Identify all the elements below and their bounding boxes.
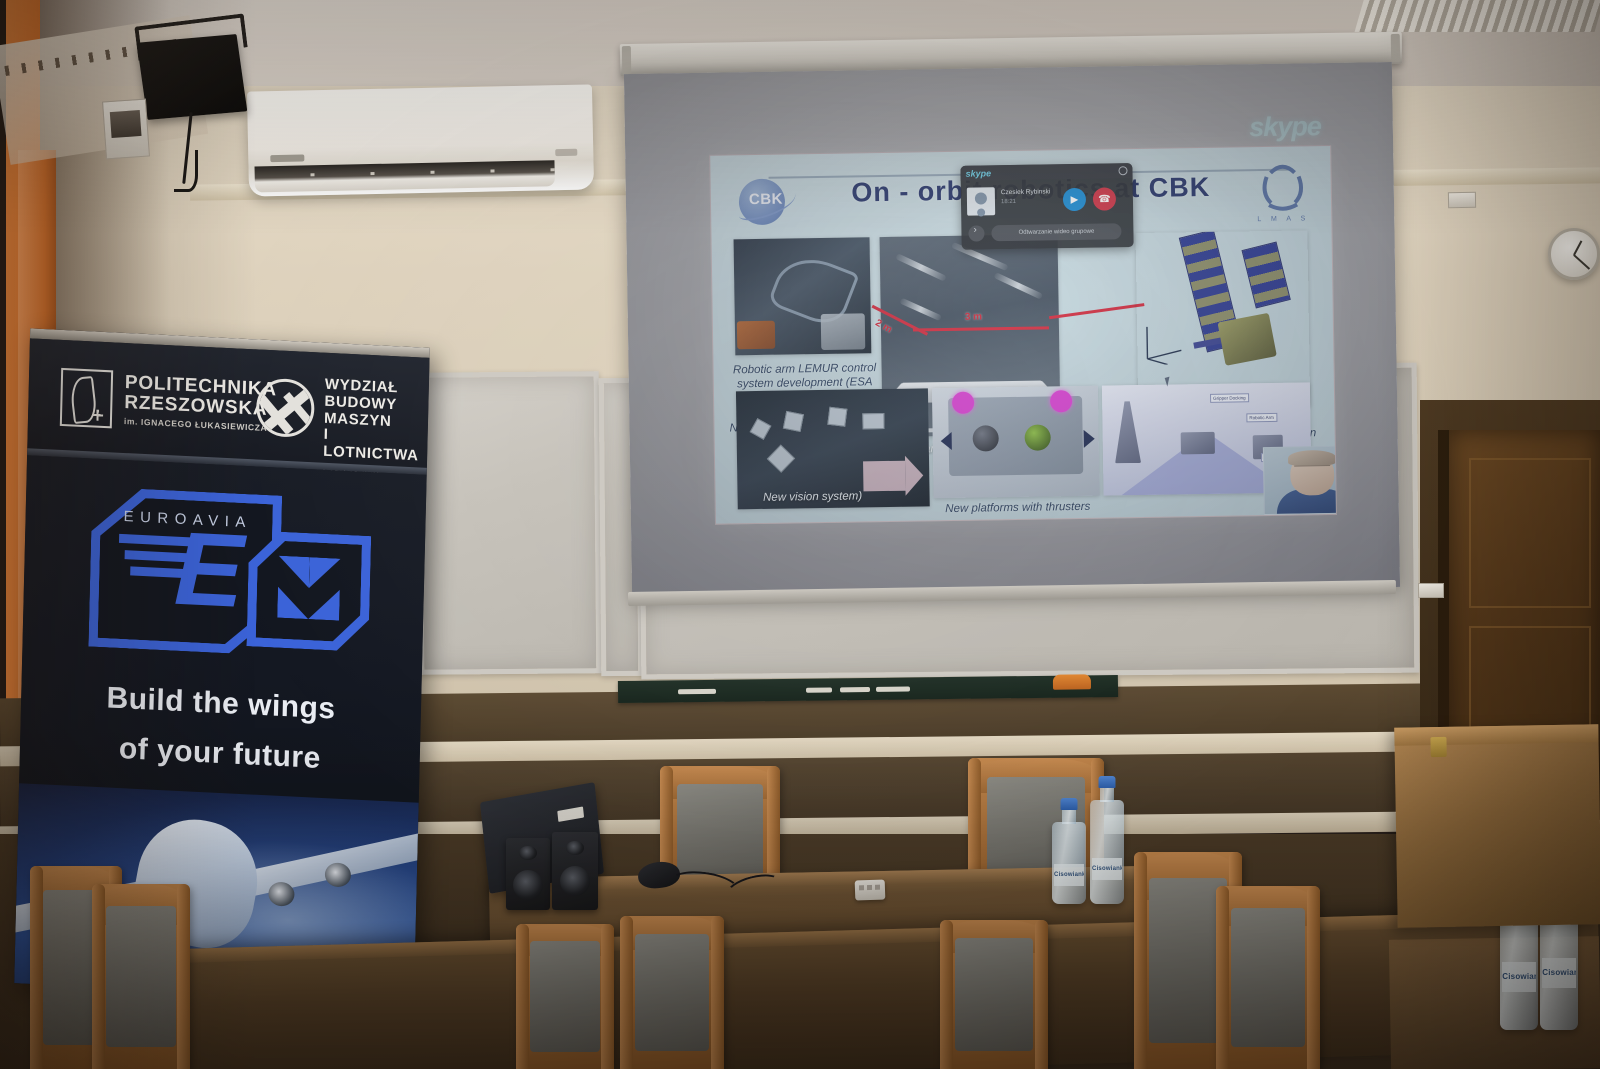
bottle-cap <box>1061 798 1078 810</box>
cross-quadrant <box>309 557 341 590</box>
chair-post-right <box>1035 920 1048 1069</box>
lectern-cup <box>1430 737 1446 757</box>
lectern <box>1394 724 1600 928</box>
thruster-arrow-right <box>1084 430 1095 448</box>
speaker-left <box>506 838 550 910</box>
tray-eraser[interactable] <box>1053 674 1091 689</box>
cbk-logo-text: CBK <box>740 190 792 208</box>
ac-air-vent <box>255 160 555 192</box>
slide-caption-vision: New vision system) <box>737 489 887 505</box>
chair-backrest <box>955 938 1033 1051</box>
chair-post-left <box>940 920 953 1069</box>
bottle-neck <box>1100 786 1114 802</box>
ceiling-light-streak <box>899 298 942 321</box>
arm-gripper-part <box>821 313 866 350</box>
cross-quadrant <box>308 588 340 621</box>
clock-minute-hand <box>1573 254 1590 269</box>
sim-callout-gripper: Gripper Docking <box>1210 393 1249 403</box>
casing-end-right <box>1391 34 1400 62</box>
lmas-arcs-svg <box>1250 162 1315 215</box>
jet-engine <box>268 881 295 906</box>
water-bottle[interactable]: Cisowianka <box>1052 822 1086 904</box>
coordinate-axes-icon <box>1141 320 1186 365</box>
speaker-right <box>552 832 598 910</box>
bottle-label: Cisowianka <box>1092 858 1122 880</box>
vision-marker <box>827 407 847 427</box>
bottle-label: Cisowianka <box>1502 962 1535 992</box>
euroavia-logo-icon: EUROAVIA E <box>88 487 372 667</box>
chair-post-left <box>30 866 43 1069</box>
lecture-room-scene: skype CBK On - orbit robotics at CBK <box>0 0 1600 1069</box>
banner-tagline-line2: of your future <box>20 727 420 781</box>
ceiling-light-streak <box>993 272 1043 299</box>
laptop-sticker <box>557 806 584 821</box>
vision-marker <box>783 411 804 432</box>
pz-monogram-icon <box>60 368 113 429</box>
chair-post-left <box>516 924 529 1069</box>
chair[interactable] <box>92 884 190 1069</box>
chair-backrest <box>1231 908 1306 1047</box>
bottle-neck <box>1062 808 1076 824</box>
presentation-remote[interactable] <box>855 879 886 900</box>
ac-brand-logo <box>270 154 304 162</box>
webcam-person-hair <box>1288 450 1336 466</box>
banner-header-strip: POLITECHNIKA RZESZOWSKA im. IGNACEGO ŁUK… <box>27 338 429 468</box>
cbk-logo-icon: CBK <box>735 174 798 227</box>
tray-marker[interactable] <box>678 689 716 694</box>
chair-post-left <box>1216 886 1229 1069</box>
tray-marker[interactable] <box>806 687 832 692</box>
speaker-cone <box>513 870 543 900</box>
bottle-cap <box>1099 776 1116 788</box>
light-switch[interactable] <box>1448 192 1476 208</box>
banner-main-area: EUROAVIA E Build the wings of your futur… <box>19 455 427 814</box>
video-camera-icon[interactable]: ▶ <box>1063 188 1086 211</box>
chair-post-left <box>620 916 633 1069</box>
banner-tagline-line1: Build the wings <box>21 677 421 731</box>
chair-post-right <box>1307 886 1320 1069</box>
tray-marker[interactable] <box>876 686 910 691</box>
wall-clock <box>1548 228 1600 280</box>
skype-watermark: skype <box>1249 111 1321 143</box>
door-panel-upper <box>1469 458 1591 608</box>
bottle-label: Cisowianka <box>1054 864 1084 886</box>
wall-junction-box <box>102 99 150 160</box>
skype-logo-icon: skype <box>965 168 991 178</box>
chair-backrest <box>635 934 710 1050</box>
speaker-cone <box>560 866 590 896</box>
wall-mounted-panel <box>137 34 248 120</box>
chair-post-left <box>92 884 105 1069</box>
tray-marker[interactable] <box>840 687 870 692</box>
sim-callout-arm: Robotic Arm <box>1246 413 1277 422</box>
casing-end-left <box>622 46 631 74</box>
speaker-tweeter <box>519 846 537 860</box>
chair[interactable] <box>516 924 614 1069</box>
skype-call-window[interactable]: skype Czesiek Rybinski 18:21 ▶ ☎ Odtwarz… <box>960 163 1133 250</box>
arm-orange-part <box>737 321 775 350</box>
chair-post-left <box>1134 852 1147 1069</box>
faculty-name-line3: I LOTNICTWA <box>323 427 428 466</box>
webcam-person-glasses <box>1294 465 1330 473</box>
water-bottle[interactable]: Cisowianka <box>1090 800 1124 904</box>
dimension-label-3m: 3 m <box>965 311 982 322</box>
propeller-circle-icon <box>256 377 315 438</box>
chair-backrest <box>530 941 601 1051</box>
sim-robot-a <box>1181 432 1215 455</box>
chair[interactable] <box>1216 886 1320 1069</box>
maltese-cross-icon <box>277 556 340 621</box>
slide-photo-robotic-arm <box>734 237 872 355</box>
chair-post-right <box>601 924 614 1069</box>
slide-photo-thruster-platform <box>932 386 1100 499</box>
speaker-tweeter <box>566 841 584 855</box>
euroavia-monogram: E <box>173 529 244 613</box>
hangup-glyph: ☎ <box>1098 193 1111 204</box>
ceiling-light-fixture <box>1355 0 1600 32</box>
lectern-top <box>1394 724 1598 746</box>
cross-quadrant <box>277 587 309 620</box>
skype-contact-name: Czesiek Rybinski <box>1001 188 1051 196</box>
chair-post-right <box>177 884 190 1069</box>
wall-socket[interactable] <box>1418 583 1444 598</box>
chair-backrest <box>106 906 177 1047</box>
phone-hangup-icon[interactable]: ☎ <box>1093 187 1116 210</box>
vision-marker <box>862 413 884 429</box>
chair-post-right <box>711 916 724 1069</box>
thruster-arrow-left <box>941 432 952 450</box>
jet-engine <box>325 862 352 887</box>
lmas-logo-label: L M A S <box>1251 215 1315 223</box>
expand-chevron-icon[interactable] <box>968 225 984 241</box>
faculty-name-line2: BUDOWY MASZYN <box>324 394 429 433</box>
vision-marker <box>750 418 772 440</box>
air-conditioner-unit <box>247 84 594 196</box>
ac-status-led <box>555 149 577 156</box>
cross-quadrant <box>278 556 310 589</box>
avatar <box>967 187 995 215</box>
presentation-slide: CBK On - orbit robotics at CBK L M A S <box>709 145 1337 525</box>
close-icon[interactable] <box>1118 166 1127 175</box>
whiteboard-left <box>417 371 602 675</box>
skype-status-pill[interactable]: Odtwarzanie wideo grupowe <box>991 223 1121 241</box>
projection-screen: skype CBK On - orbit robotics at CBK <box>624 62 1400 599</box>
chair[interactable] <box>940 920 1048 1069</box>
university-name-block: POLITECHNIKA RZESZOWSKA im. IGNACEGO ŁUK… <box>124 373 277 434</box>
lmas-logo-icon: L M A S <box>1250 162 1315 223</box>
ceiling-light-streak <box>895 253 946 281</box>
skype-call-time: 18:21 <box>1001 199 1016 205</box>
vision-flow-arrow <box>863 461 905 492</box>
webcam-thumbnail[interactable] <box>1263 446 1337 515</box>
vision-marker <box>767 445 795 473</box>
slide-caption-thrusters: New platforms with thrusters <box>940 500 1096 516</box>
video-glyph: ▶ <box>1071 194 1079 205</box>
dimension-arrow-right <box>1049 303 1145 319</box>
satellite-body <box>1217 313 1276 366</box>
panel-cable-loop <box>174 150 198 192</box>
bottle-label: Cisowianka <box>1542 958 1575 988</box>
chair[interactable] <box>620 916 724 1069</box>
satellite-solar-panel <box>1241 242 1290 309</box>
